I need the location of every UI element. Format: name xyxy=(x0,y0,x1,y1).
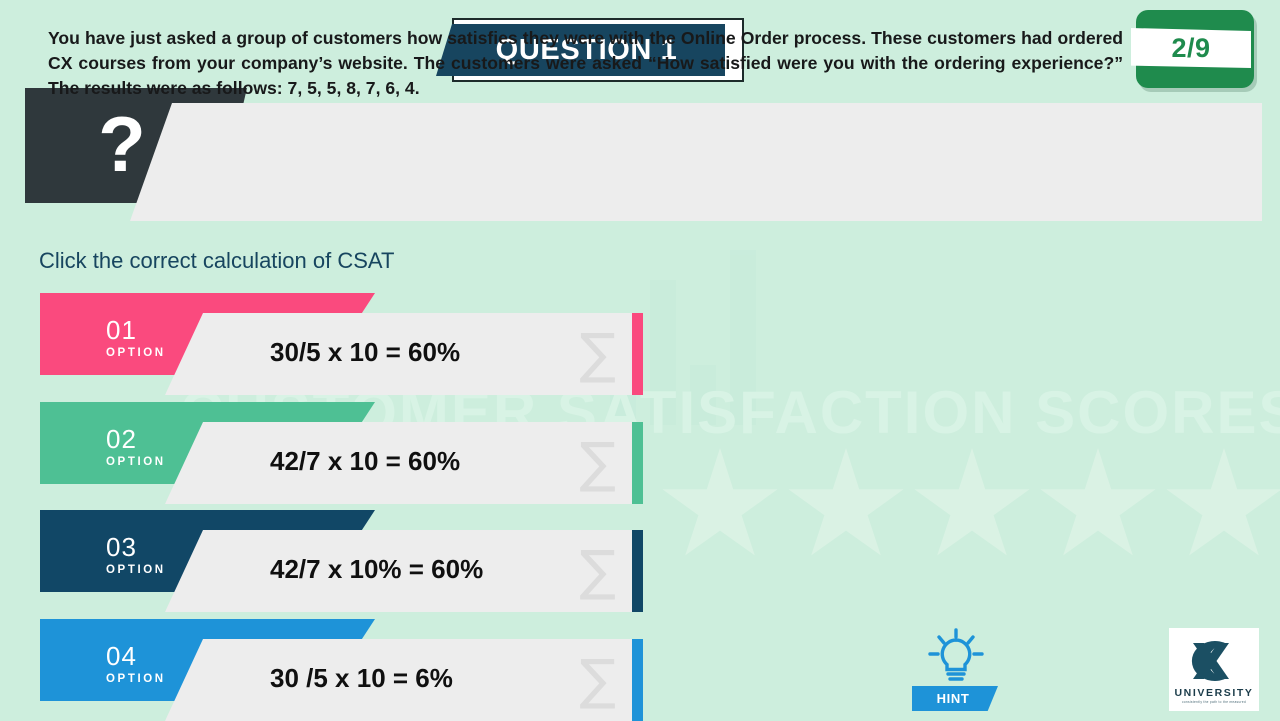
sigma-icon: ∑ xyxy=(580,436,616,490)
option-number-2: 02 xyxy=(106,424,137,455)
sigma-icon: ∑ xyxy=(580,327,616,381)
option-answer-4: 30 /5 x 10 = 6% xyxy=(270,663,453,694)
cx-university-logo: UNIVERSITY consistently the path to the … xyxy=(1169,628,1259,711)
option-number-4: 04 xyxy=(106,641,137,672)
option-accent-4 xyxy=(632,639,643,721)
option-card-1[interactable]: 30/5 x 10 = 60% ∑ xyxy=(165,313,632,395)
option-row-2[interactable]: 02 OPTION 42/7 x 10 = 60% ∑ xyxy=(40,402,640,504)
question-mark-icon: ? xyxy=(98,105,146,183)
option-row-4[interactable]: 04 OPTION 30 /5 x 10 = 6% ∑ xyxy=(40,619,640,721)
option-number-3: 03 xyxy=(106,532,137,563)
watermark-star-icon xyxy=(786,448,906,566)
hint-banner[interactable]: HINT xyxy=(912,686,998,711)
page-counter-text: 2/9 xyxy=(1171,33,1210,64)
hint-label: HINT xyxy=(937,691,970,706)
watermark-star-icon xyxy=(660,448,780,566)
option-number-1: 01 xyxy=(106,315,137,346)
option-card-3[interactable]: 42/7 x 10% = 60% ∑ xyxy=(165,530,632,612)
watermark-star-icon xyxy=(1164,448,1280,566)
option-accent-2 xyxy=(632,422,643,504)
option-row-1[interactable]: 01 OPTION 30/5 x 10 = 60% ∑ xyxy=(40,293,640,395)
question-panel xyxy=(130,103,1262,221)
watermark-star-icon xyxy=(912,448,1032,566)
option-card-4[interactable]: 30 /5 x 10 = 6% ∑ xyxy=(165,639,632,721)
page-counter-sheet: 2/9 xyxy=(1131,28,1251,68)
lightbulb-icon xyxy=(926,628,986,686)
question-text: You have just asked a group of customers… xyxy=(48,26,1123,101)
option-card-2[interactable]: 42/7 x 10 = 60% ∑ xyxy=(165,422,632,504)
logo-tagline: consistently the path to the measured xyxy=(1182,700,1246,704)
option-answer-3: 42/7 x 10% = 60% xyxy=(270,554,483,585)
cx-monogram-icon xyxy=(1183,636,1245,686)
option-row-3[interactable]: 03 OPTION 42/7 x 10% = 60% ∑ xyxy=(40,510,640,612)
option-sublabel-2: OPTION xyxy=(106,456,166,468)
option-sublabel-3: OPTION xyxy=(106,564,166,576)
hint-button[interactable]: HINT xyxy=(912,628,998,714)
option-accent-3 xyxy=(632,530,643,612)
watermark-stars xyxy=(660,448,1280,566)
option-sublabel-1: OPTION xyxy=(106,347,166,359)
option-answer-2: 42/7 x 10 = 60% xyxy=(270,446,460,477)
option-accent-1 xyxy=(632,313,643,395)
logo-name: UNIVERSITY xyxy=(1174,687,1253,699)
watermark-star-icon xyxy=(1038,448,1158,566)
sigma-icon: ∑ xyxy=(580,544,616,598)
option-answer-1: 30/5 x 10 = 60% xyxy=(270,337,460,368)
instruction-text: Click the correct calculation of CSAT xyxy=(39,248,394,274)
option-sublabel-4: OPTION xyxy=(106,673,166,685)
sigma-icon: ∑ xyxy=(580,653,616,707)
